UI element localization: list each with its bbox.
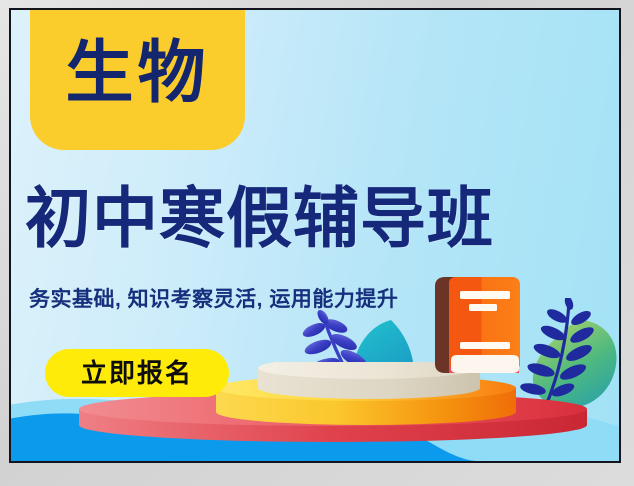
- promo-banner: 生物 初中寒假辅导班 务实基础, 知识考察灵活, 运用能力提升 立即报名: [9, 8, 621, 463]
- subject-badge-label: 生物: [30, 30, 245, 116]
- book-cover: [449, 277, 520, 366]
- poster-frame: 生物 初中寒假辅导班 务实基础, 知识考察灵活, 运用能力提升 立即报名: [0, 0, 634, 486]
- signup-button[interactable]: 立即报名: [45, 349, 229, 397]
- subject-badge: 生物: [30, 8, 245, 150]
- book-label-bar-top: [460, 291, 510, 299]
- book-pages: [451, 355, 519, 373]
- signup-button-label: 立即报名: [45, 358, 229, 388]
- book-label-bar-mid: [469, 304, 497, 311]
- page-title: 初中寒假辅导班: [25, 177, 609, 259]
- book-illustration: [427, 274, 527, 380]
- subtitle-text: 务实基础, 知识考察灵活, 运用能力提升: [29, 285, 398, 315]
- book-label-bar-bottom: [460, 342, 510, 349]
